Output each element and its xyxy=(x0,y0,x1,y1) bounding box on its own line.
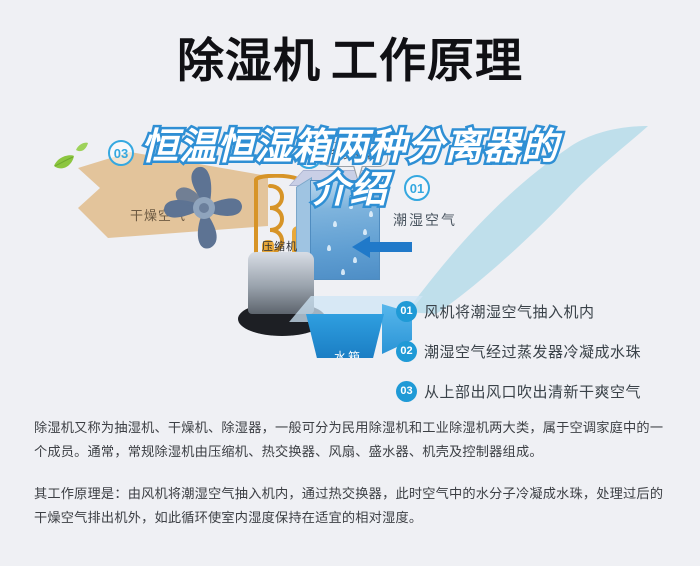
water-tank-label: 水箱 xyxy=(334,348,362,365)
left-arrow-icon xyxy=(352,236,412,258)
page-title-text: 除湿机工作原理 xyxy=(177,37,523,84)
legend-badge: 02 xyxy=(396,341,417,362)
leaf-icon xyxy=(52,154,76,177)
diagram-legend: 01 风机将潮湿空气抽入机内 02 潮湿空气经过蒸发器冷凝成水珠 03 从上部出… xyxy=(396,296,696,416)
legend-item: 01 风机将潮湿空气抽入机内 xyxy=(396,296,696,326)
legend-item: 02 潮湿空气经过蒸发器冷凝成水珠 xyxy=(396,336,696,366)
article-body: 除湿机又称为抽湿机、干燥机、除湿器，一般可分为民用除湿机和工业除湿机两大类，属于… xyxy=(34,416,670,530)
page-title-part1: 除湿机 xyxy=(177,34,321,87)
page-title-part2: 工作原理 xyxy=(331,34,523,87)
heat-exchanger-callout: 热交换器 xyxy=(322,142,388,167)
water-tank-front: 水箱 xyxy=(306,314,384,358)
legend-label: 潮湿空气经过蒸发器冷凝成水珠 xyxy=(424,341,641,362)
dehumidifier-diagram: 干燥空气 03 xyxy=(0,118,700,403)
legend-badge: 03 xyxy=(396,381,417,402)
compressor-label: 压缩机 xyxy=(262,238,298,254)
article-paragraph-2: 其工作原理是：由风机将潮湿空气抽入机内，通过热交换器，此时空气中的水分子冷凝成水… xyxy=(34,482,670,530)
legend-item: 03 从上部出风口吹出清新干爽空气 xyxy=(396,376,696,406)
legend-label: 从上部出风口吹出清新干爽空气 xyxy=(424,381,641,402)
legend-badge: 01 xyxy=(396,301,417,322)
moist-air-label: 潮湿空气 xyxy=(393,210,457,230)
legend-label: 风机将潮湿空气抽入机内 xyxy=(424,301,595,322)
page-title: 除湿机工作原理 xyxy=(0,0,700,120)
article-paragraph-1: 除湿机又称为抽湿机、干燥机、除湿器，一般可分为民用除湿机和工业除湿机两大类，属于… xyxy=(34,416,670,464)
diagram-badge-01: 01 xyxy=(404,175,430,201)
diagram-badge-02: 02 xyxy=(296,143,322,169)
diagram-badge-03: 03 xyxy=(108,140,134,166)
air-intake-arrow xyxy=(352,236,412,258)
